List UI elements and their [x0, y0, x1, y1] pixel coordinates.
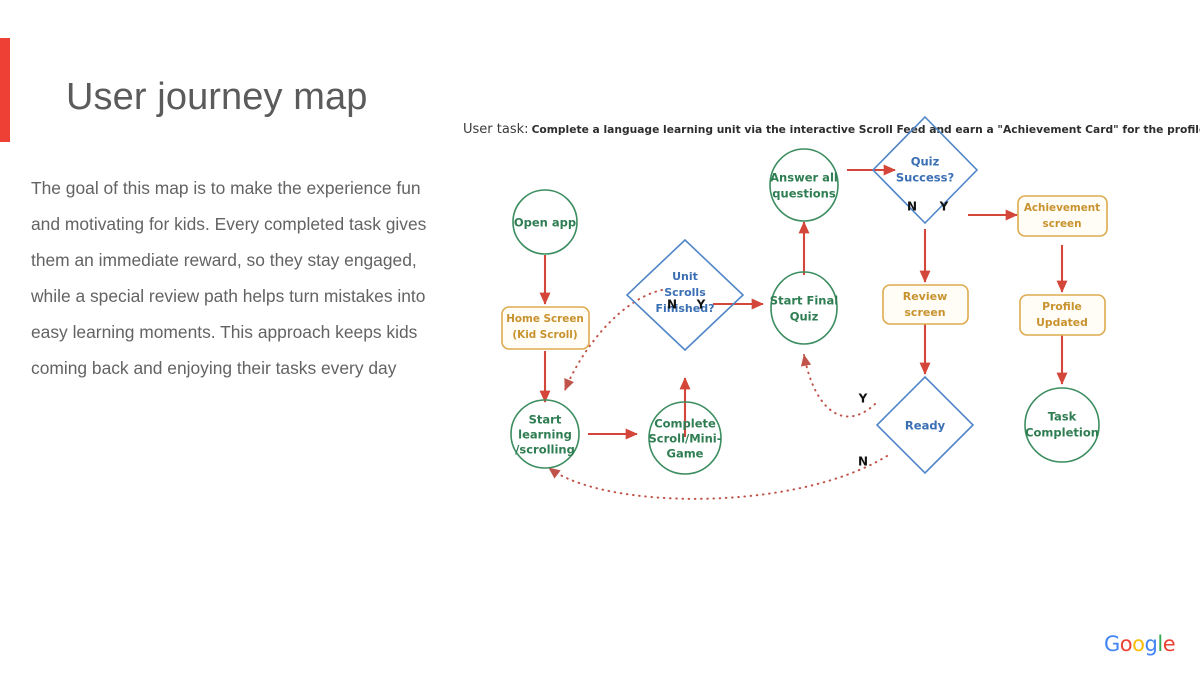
node-task-completion[interactable]: Task Completion [1025, 388, 1099, 462]
node-home-screen-label-2: (Kid Scroll) [512, 329, 577, 341]
node-complete-scroll-label-3: Game [667, 447, 704, 461]
logo-letter-g2: g [1145, 632, 1158, 656]
node-profile-updated[interactable]: Profile Updated [1020, 295, 1105, 335]
node-achievement-screen[interactable]: Achievement screen [1018, 196, 1107, 236]
accent-bar [0, 38, 10, 142]
node-start-learning[interactable]: Start learning /scrolling [511, 400, 579, 468]
node-review-label-1: Review [903, 290, 948, 303]
node-complete-scroll-label-2: Scroll/Mini- [648, 432, 721, 446]
node-unit-scrolls-finished[interactable]: Unit Scrolls Finished? [627, 240, 743, 350]
node-task-completion-label-2: Completion [1025, 426, 1099, 440]
node-unit-label-3: Finished? [656, 302, 715, 315]
node-final-quiz-label-1: Start Final [770, 294, 838, 308]
node-ready[interactable]: Ready [877, 377, 973, 473]
branch-label-ready-n: N [858, 455, 868, 469]
node-home-screen-label-1: Home Screen [506, 313, 584, 325]
logo-letter-o2: o [1132, 632, 1144, 656]
flowchart-svg: Open app Home Screen (Kid Scroll) Start … [455, 112, 1135, 512]
slide-body-text: The goal of this map is to make the expe… [31, 170, 439, 386]
logo-letter-o1: o [1120, 632, 1132, 656]
node-task-completion-label-1: Task [1048, 410, 1077, 424]
node-start-learning-label-2: learning [518, 428, 572, 442]
user-journey-flowchart: User task: Complete a language learning … [455, 112, 1135, 512]
node-review-screen[interactable]: Review screen [883, 285, 968, 324]
node-answer-all-questions[interactable]: Answer all questions [770, 149, 838, 221]
node-open-app-label: Open app [514, 216, 576, 230]
page-title: User journey map [66, 76, 368, 119]
node-review-label-2: screen [904, 306, 945, 319]
logo-letter-e: e [1163, 632, 1175, 656]
dotted-ready-n-to-start [549, 456, 887, 499]
node-quiz-success-label-2: Success? [896, 171, 954, 185]
node-profile-label-1: Profile [1042, 300, 1082, 313]
slide: User journey map The goal of this map is… [0, 0, 1200, 675]
node-answer-label-1: Answer all [770, 171, 838, 185]
branch-label-quiz-y: Y [939, 200, 949, 214]
node-ready-label: Ready [905, 419, 946, 433]
node-achievement-label-2: screen [1043, 218, 1082, 230]
dotted-ready-y-to-finalquiz [804, 355, 875, 417]
node-unit-label-1: Unit [672, 270, 698, 283]
branch-label-unit-y: Y [696, 298, 706, 312]
node-start-learning-label-1: Start [529, 413, 562, 427]
node-complete-scroll-label-1: Complete [654, 417, 716, 431]
node-home-screen[interactable]: Home Screen (Kid Scroll) [502, 307, 589, 349]
node-open-app[interactable]: Open app [513, 190, 577, 254]
node-profile-label-2: Updated [1036, 316, 1088, 329]
google-logo: Google [1104, 632, 1175, 656]
branch-label-quiz-n: N [907, 200, 917, 214]
node-answer-label-2: questions [772, 187, 836, 201]
branch-label-unit-n: N [667, 298, 677, 312]
node-quiz-success-label-1: Quiz [911, 155, 940, 169]
node-start-learning-label-3: /scrolling [515, 443, 575, 457]
node-start-final-quiz[interactable]: Start Final Quiz [770, 272, 838, 344]
branch-label-ready-y: Y [858, 392, 868, 406]
node-achievement-label-1: Achievement [1024, 202, 1100, 214]
node-final-quiz-label-2: Quiz [790, 310, 819, 324]
logo-letter-g: G [1104, 632, 1120, 656]
